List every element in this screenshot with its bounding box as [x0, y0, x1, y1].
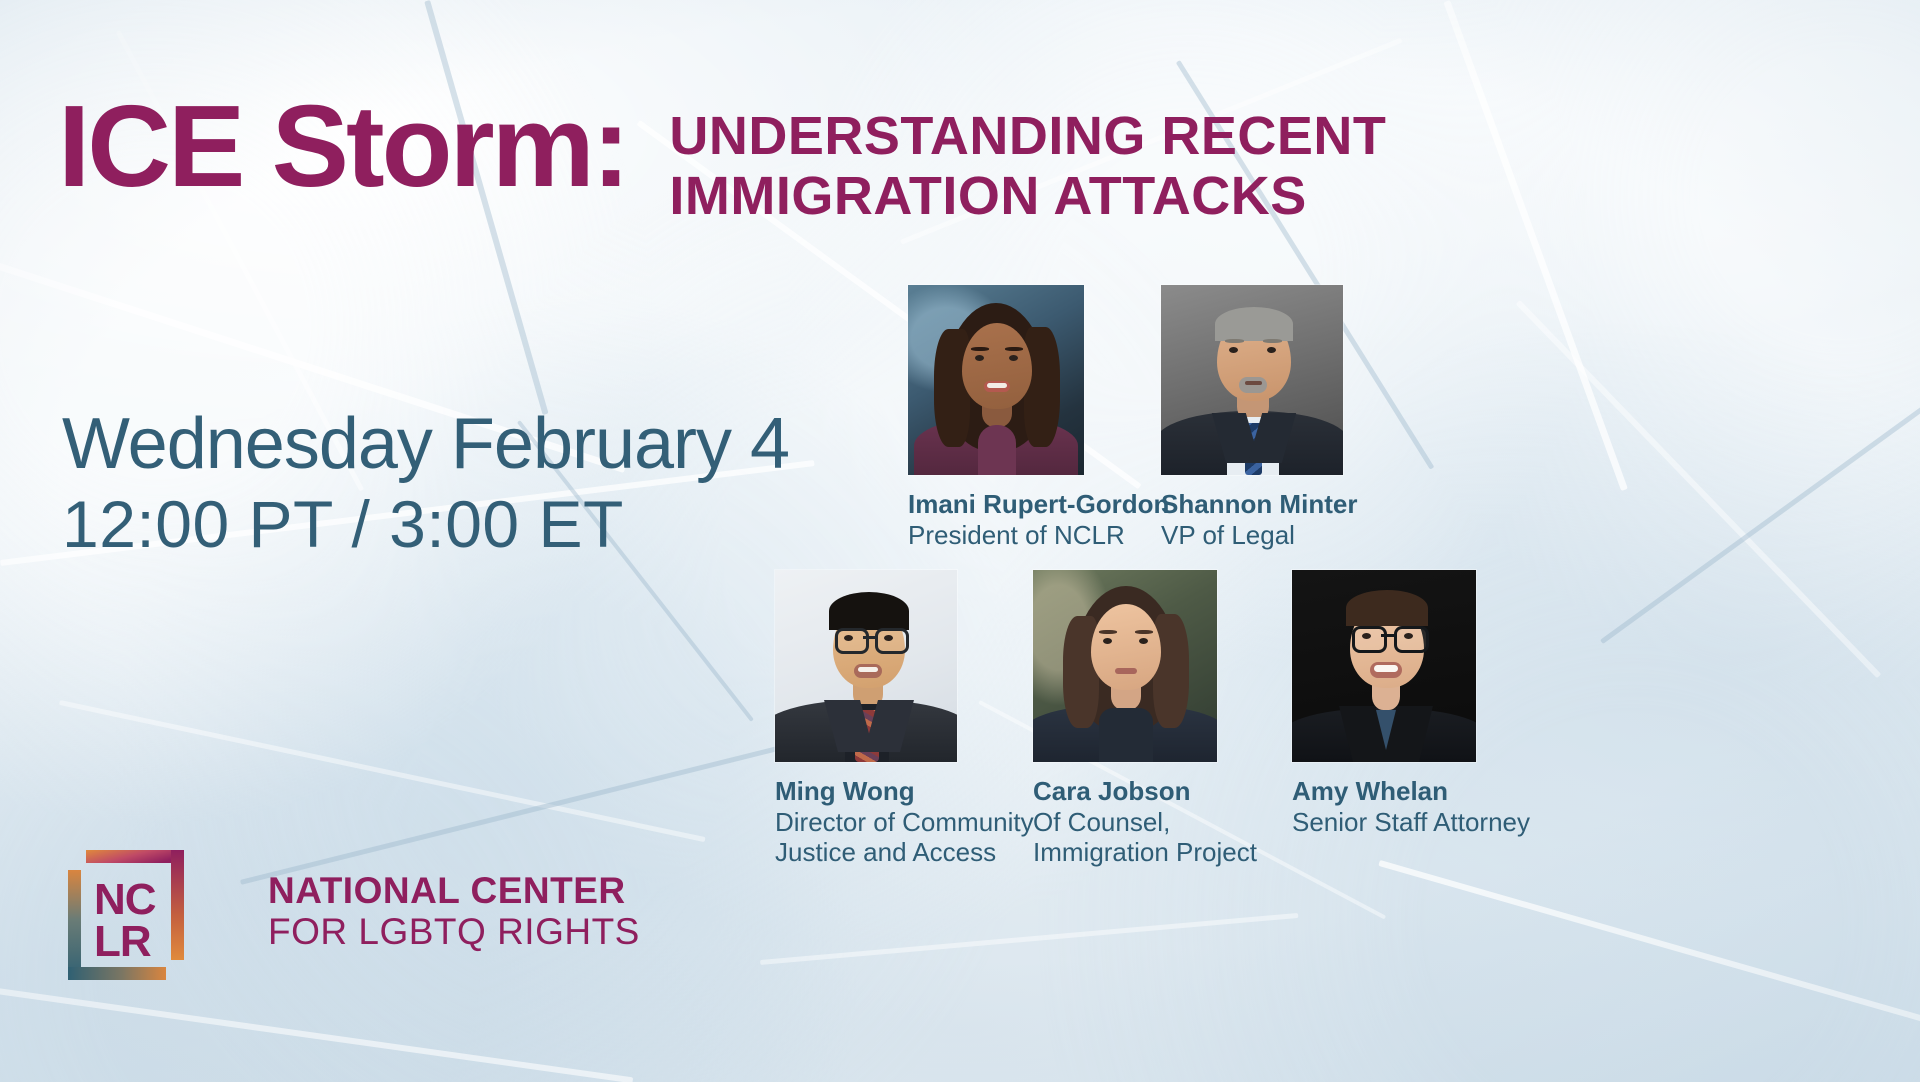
speaker-photo [1292, 570, 1476, 762]
wordmark-line-2: FOR LGBTQ RIGHTS [268, 911, 640, 952]
speaker-role-line-1: Director of Community [775, 807, 1034, 838]
speaker-role: VP of Legal [1161, 520, 1357, 551]
speaker-photo [1161, 285, 1343, 475]
speaker-role-line-2: Justice and Access [775, 837, 1034, 868]
speaker-card-ming-wong: Ming Wong Director of Community Justice … [775, 570, 1034, 868]
event-promo-poster: ICE Storm:UNDERSTANDING RECENTIMMIGRATIO… [0, 0, 1920, 1082]
speaker-card-amy-whelan: Amy Whelan Senior Staff Attorney [1292, 570, 1530, 837]
nclr-wordmark: NATIONAL CENTER FOR LGBTQ RIGHTS [268, 870, 640, 953]
page-subtitle: UNDERSTANDING RECENTIMMIGRATION ATTACKS [669, 106, 1386, 227]
page-title: ICE Storm: [58, 88, 627, 204]
speaker-photo [1033, 570, 1217, 762]
wordmark-line-1: NATIONAL CENTER [268, 870, 640, 911]
speaker-caption: Ming Wong Director of Community Justice … [775, 776, 1034, 868]
speaker-name: Imani Rupert-Gordon [908, 489, 1169, 520]
speaker-caption: Amy Whelan Senior Staff Attorney [1292, 776, 1530, 837]
speaker-name: Amy Whelan [1292, 776, 1530, 807]
speaker-name: Ming Wong [775, 776, 1034, 807]
speaker-card-cara-jobson: Cara Jobson Of Counsel, Immigration Proj… [1033, 570, 1257, 868]
speaker-role-line-1: Of Counsel, [1033, 807, 1257, 838]
speaker-photo [908, 285, 1084, 475]
event-date: Wednesday February 4 [62, 406, 789, 482]
speaker-card-shannon-minter: Shannon Minter VP of Legal [1161, 285, 1357, 550]
event-time: 12:00 PT / 3:00 ET [62, 488, 789, 562]
speaker-name: Shannon Minter [1161, 489, 1357, 520]
nclr-logo: NC LR NATIONAL CENTER FOR LGBTQ RIGHTS [56, 838, 616, 988]
speaker-caption: Imani Rupert-Gordon President of NCLR [908, 489, 1169, 550]
speaker-role: President of NCLR [908, 520, 1169, 551]
svg-text:LR: LR [94, 917, 151, 966]
subtitle-line-2: IMMIGRATION ATTACKS [669, 166, 1386, 226]
speaker-card-imani-rupert-gordon: Imani Rupert-Gordon President of NCLR [908, 285, 1169, 550]
speaker-role-line-2: Immigration Project [1033, 837, 1257, 868]
nclr-logo-mark-icon: NC LR [56, 838, 216, 986]
subtitle-line-1: UNDERSTANDING RECENT [669, 106, 1386, 166]
speaker-role: Senior Staff Attorney [1292, 807, 1530, 838]
speaker-caption: Shannon Minter VP of Legal [1161, 489, 1357, 550]
speaker-caption: Cara Jobson Of Counsel, Immigration Proj… [1033, 776, 1257, 868]
event-datetime: Wednesday February 4 12:00 PT / 3:00 ET [62, 406, 789, 562]
headline-block: ICE Storm:UNDERSTANDING RECENTIMMIGRATIO… [58, 88, 1458, 227]
speaker-name: Cara Jobson [1033, 776, 1257, 807]
speaker-photo [775, 570, 957, 762]
